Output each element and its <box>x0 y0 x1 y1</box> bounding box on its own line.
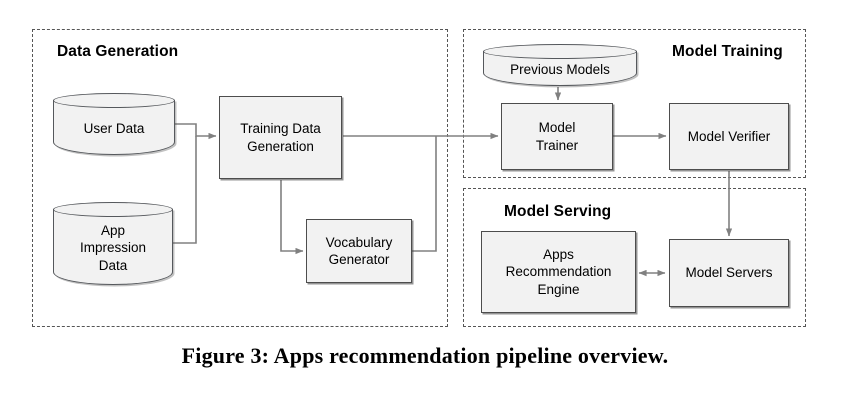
datastore-app-impression-data[interactable]: AppImpressionData <box>53 202 173 285</box>
datastore-previous-models-label: Previous Models <box>483 53 637 86</box>
node-model-servers[interactable]: Model Servers <box>669 239 789 307</box>
datastore-user-data-label: User Data <box>53 102 175 155</box>
node-model-trainer[interactable]: ModelTrainer <box>501 103 613 170</box>
datastore-previous-models[interactable]: Previous Models <box>483 44 637 86</box>
datastore-user-data[interactable]: User Data <box>53 93 175 155</box>
group-title-data-generation: Data Generation <box>57 43 178 61</box>
node-model-verifier[interactable]: Model Verifier <box>669 103 789 170</box>
group-title-model-training: Model Training <box>672 43 783 61</box>
group-title-model-serving: Model Serving <box>504 203 611 221</box>
node-training-data-generation[interactable]: Training DataGeneration <box>219 96 342 179</box>
node-vocabulary-generator[interactable]: VocabularyGenerator <box>306 219 412 283</box>
figure-container: Data Generation Model Training Model Ser… <box>0 0 850 402</box>
node-apps-recommendation-engine[interactable]: AppsRecommendationEngine <box>481 231 636 313</box>
figure-caption: Figure 3: Apps recommendation pipeline o… <box>0 343 850 369</box>
datastore-app-impression-data-label: AppImpressionData <box>53 211 173 285</box>
